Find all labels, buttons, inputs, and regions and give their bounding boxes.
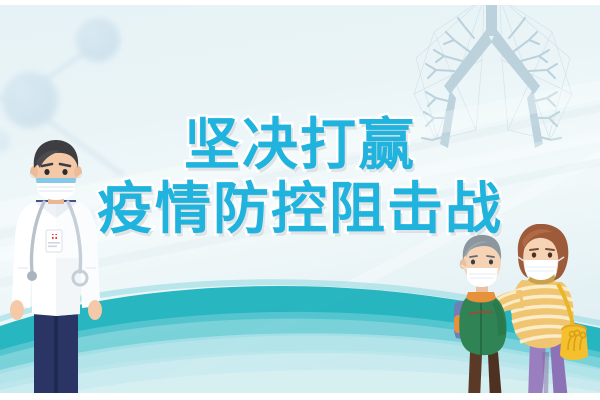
headline: 坚决打赢 疫情防控阻击战 [0,118,600,238]
family-illustration [454,224,600,400]
headline-line-2: 疫情防控阻击战 [0,182,600,238]
bottom-edge-strip [0,393,600,400]
poster-canvas: 坚决打赢 疫情防控阻击战 [0,0,600,400]
headline-line-1: 坚决打赢 [0,118,600,174]
boy-figure [454,235,507,400]
top-edge-strip [0,0,600,5]
